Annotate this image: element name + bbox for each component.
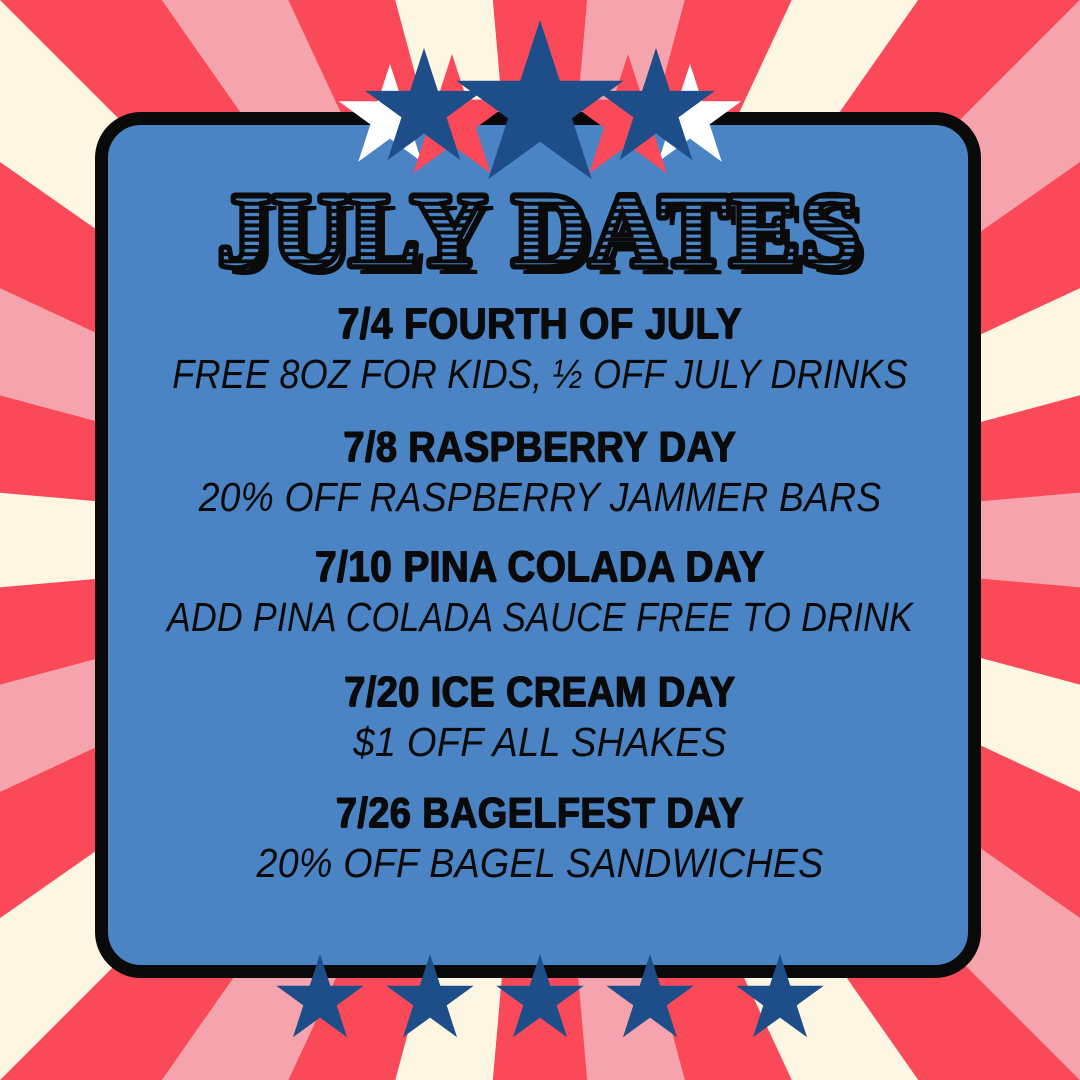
july-dates-poster: .ttl { font-family:"Liberation Serif", s… xyxy=(0,0,1080,1080)
event-item: 7/8 RASPBERRY DAY20% OFF RASPBERRY JAMME… xyxy=(110,424,970,521)
title-fill: JULY DATES xyxy=(218,173,861,288)
event-offer: 20% OFF RASPBERRY JAMMER BARS xyxy=(149,474,932,522)
event-date-label: 7/4 FOURTH OF JULY xyxy=(162,300,919,348)
event-date-label: 7/26 BAGELFEST DAY xyxy=(162,790,919,836)
event-item: 7/26 BAGELFEST DAY20% OFF BAGEL SANDWICH… xyxy=(110,790,970,887)
event-offer: $1 OFF ALL SHAKES xyxy=(140,719,940,767)
event-date-label: 7/20 ICE CREAM DAY xyxy=(162,669,919,715)
event-list: 7/4 FOURTH OF JULYFREE 8OZ FOR KIDS, ½ O… xyxy=(110,300,970,887)
event-item: 7/10 PINA COLADA DAYADD PINA COLADA SAUC… xyxy=(110,543,970,641)
event-date-label: 7/10 PINA COLADA DAY xyxy=(162,543,919,591)
event-item: 7/4 FOURTH OF JULYFREE 8OZ FOR KIDS, ½ O… xyxy=(110,300,970,398)
poster-title: .ttl { font-family:"Liberation Serif", s… xyxy=(0,168,1080,298)
event-item: 7/20 ICE CREAM DAY$1 OFF ALL SHAKES xyxy=(110,669,970,766)
event-offer: 20% OFF BAGEL SANDWICHES xyxy=(144,840,935,888)
event-offer: ADD PINA COLADA SAUCE FREE TO DRINK xyxy=(166,594,914,642)
event-date-label: 7/8 RASPBERRY DAY xyxy=(162,424,919,470)
event-offer: FREE 8OZ FOR KIDS, ½ OFF JULY DRINKS xyxy=(162,351,919,399)
